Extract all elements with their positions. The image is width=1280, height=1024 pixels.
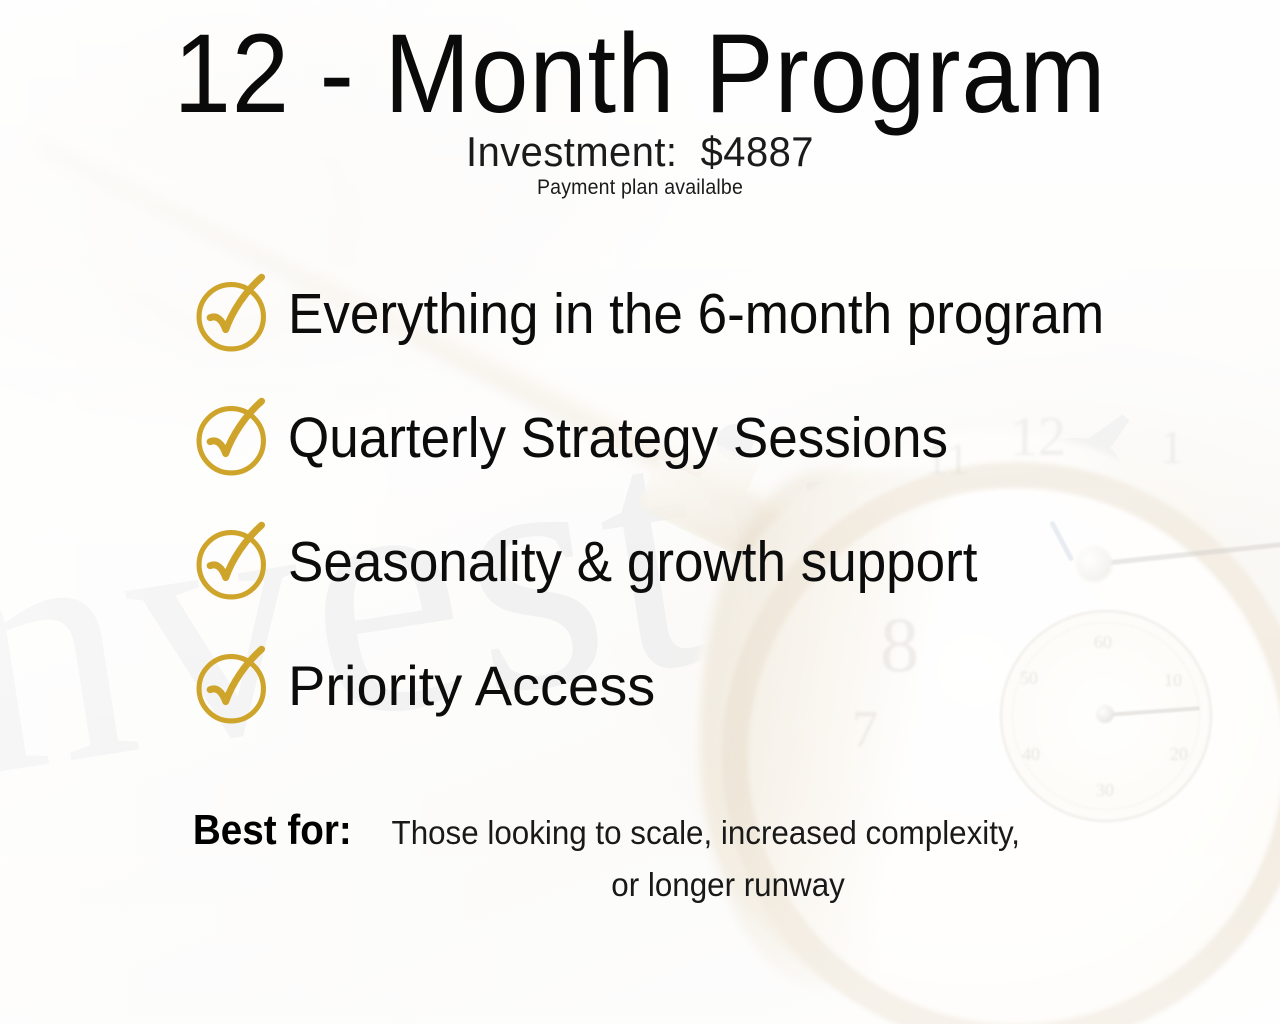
check-circle-icon <box>188 392 280 484</box>
best-for-first-line: Best for: Those looking to scale, increa… <box>186 806 1086 854</box>
check-circle-icon <box>188 268 280 360</box>
page-title: 12 - Month Program <box>51 14 1229 135</box>
best-for-description-line-2: or longer runway <box>209 866 1064 904</box>
slide-canvas: nvesting 12 11 1 8 7 5 6 50 60 10 20 30 … <box>0 0 1280 1024</box>
check-circle-icon <box>188 516 280 608</box>
best-for-section: Best for: Those looking to scale, increa… <box>186 806 1086 904</box>
slide-content: 12 - Month Program Investment: $4887 Pay… <box>0 0 1280 1024</box>
feature-list: Everything in the 6-month program Quarte… <box>188 252 1248 748</box>
list-item: Quarterly Strategy Sessions <box>188 376 1248 500</box>
payment-plan-note: Payment plan availalbe <box>45 176 1235 200</box>
list-item: Priority Access <box>188 624 1248 748</box>
feature-label: Priority Access <box>288 658 655 714</box>
feature-label: Everything in the 6-month program <box>288 286 1104 343</box>
investment-amount: Investment: $4887 <box>32 128 1248 176</box>
best-for-description-line-1: Those looking to scale, increased comple… <box>391 814 1019 852</box>
list-item: Seasonality & growth support <box>188 500 1248 624</box>
feature-label: Quarterly Strategy Sessions <box>288 410 948 467</box>
feature-label: Seasonality & growth support <box>288 534 978 591</box>
best-for-label: Best for: <box>193 806 352 854</box>
list-item: Everything in the 6-month program <box>188 252 1248 376</box>
check-circle-icon <box>188 640 280 732</box>
